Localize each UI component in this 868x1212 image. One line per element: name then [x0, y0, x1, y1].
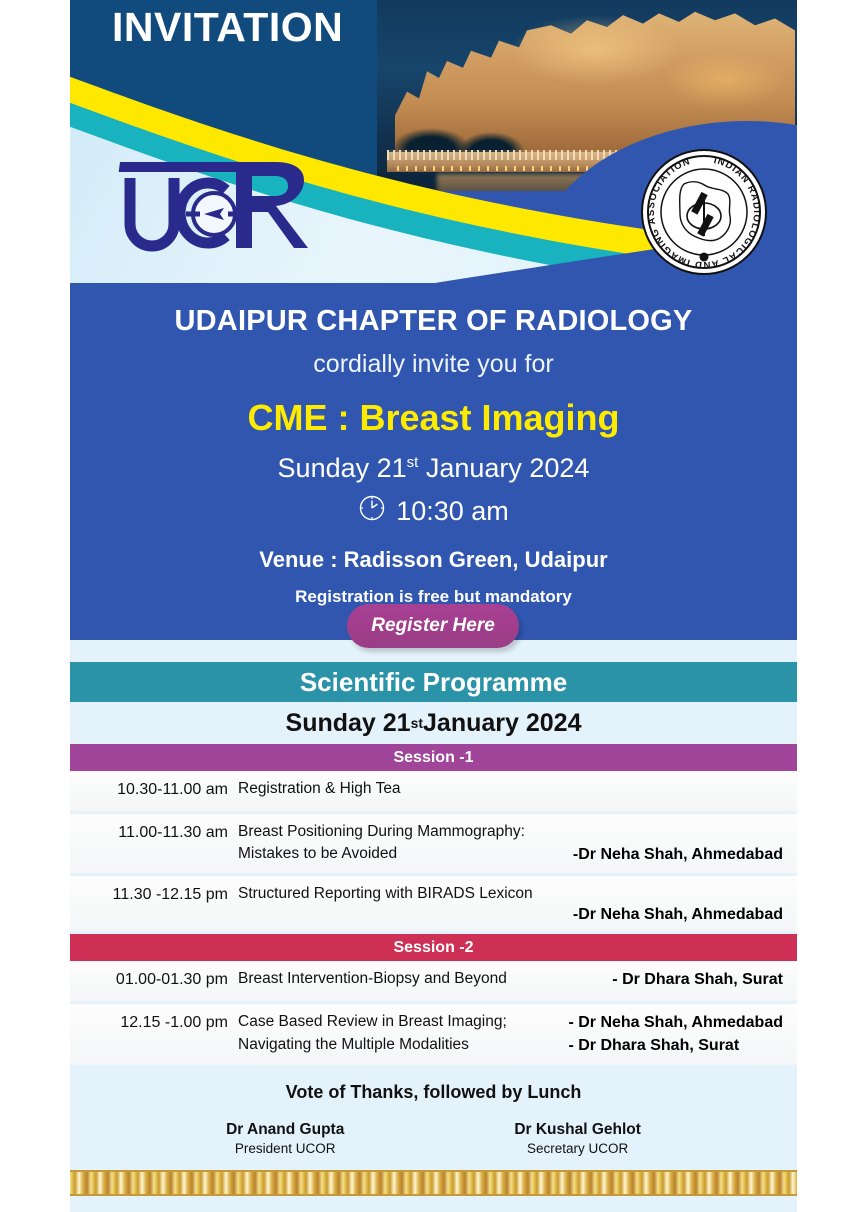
event-title: CME : Breast Imaging: [70, 397, 797, 439]
programme-header: Scientific Programme: [70, 662, 797, 702]
programme-date-suffix: January 2024: [423, 709, 581, 738]
topic-line: Case Based Review in Breast Imaging;: [238, 1011, 568, 1033]
topic-line: Breast Positioning During Mammography:: [238, 821, 573, 843]
topic-line: Mistakes to be Avoided: [238, 843, 573, 865]
topic-line: Structured Reporting with BIRADS Lexicon: [238, 883, 783, 905]
gold-decorative-border: [70, 1170, 797, 1196]
event-date-ordinal: st: [407, 454, 419, 471]
organization-title: UDAIPUR CHAPTER OF RADIOLOGY: [70, 283, 797, 338]
signatory-president: Dr Anand Gupta President UCOR: [226, 1121, 344, 1156]
event-venue: Venue : Radisson Green, Udaipur: [70, 547, 797, 573]
session-1-bar: Session -1: [70, 744, 797, 771]
row-speaker: - Dr Dhara Shah, Surat: [612, 968, 783, 991]
row-topic: Breast Positioning During Mammography: M…: [238, 821, 573, 866]
signatory-name: Dr Anand Gupta: [226, 1121, 344, 1139]
row-topic: Structured Reporting with BIRADS Lexicon: [238, 883, 783, 906]
row-topic: Registration & High Tea: [238, 778, 783, 800]
topic-line: Navigating the Multiple Modalities: [238, 1034, 568, 1056]
invitation-poster: INVITATION: [70, 0, 797, 1212]
row-topic: Case Based Review in Breast Imaging; Nav…: [238, 1011, 568, 1056]
table-row: 11.30 -12.15 pm Structured Reporting wit…: [70, 876, 797, 934]
table-row: 01.00-01.30 pm Breast Intervention-Biops…: [70, 961, 797, 1004]
clock-icon: [358, 494, 386, 529]
row-speaker: - Dr Neha Shah, Ahmedabad: [568, 1011, 783, 1034]
event-date-suffix: January 2024: [418, 453, 589, 483]
signatory-secretary: Dr Kushal Gehlot Secretary UCOR: [514, 1121, 641, 1156]
row-speaker: -Dr Neha Shah, Ahmedabad: [80, 906, 783, 924]
row-time: 11.30 -12.15 pm: [80, 883, 238, 906]
event-time-row: 10:30 am: [70, 494, 797, 529]
bottom-fill: [70, 1196, 797, 1210]
session-2-bar: Session -2: [70, 934, 797, 961]
ucor-logo: [108, 148, 308, 260]
invitation-title: INVITATION: [112, 4, 343, 51]
row-time: 10.30-11.00 am: [80, 778, 238, 801]
signatories: Dr Anand Gupta President UCOR Dr Kushal …: [70, 1103, 797, 1166]
row-speaker-group: - Dr Neha Shah, Ahmedabad - Dr Dhara Sha…: [568, 1011, 783, 1057]
topic-line: Registration & High Tea: [238, 778, 783, 800]
event-details-section: UDAIPUR CHAPTER OF RADIOLOGY cordially i…: [70, 283, 797, 640]
row-time: 11.00-11.30 am: [80, 821, 238, 844]
signatory-role: Secretary UCOR: [514, 1141, 641, 1156]
row-speaker: -Dr Neha Shah, Ahmedabad: [573, 843, 783, 866]
table-row: 12.15 -1.00 pm Case Based Review in Brea…: [70, 1004, 797, 1067]
table-row: 11.00-11.30 am Breast Positioning During…: [70, 814, 797, 876]
register-here-button[interactable]: Register Here: [347, 604, 519, 648]
row-time: 12.15 -1.00 pm: [80, 1011, 238, 1034]
invite-line: cordially invite you for: [70, 350, 797, 379]
event-date: Sunday 21st January 2024: [70, 453, 797, 484]
signatory-role: President UCOR: [226, 1141, 344, 1156]
programme-date-ordinal: st: [411, 715, 423, 731]
row-speaker: - Dr Dhara Shah, Surat: [568, 1034, 783, 1057]
signatory-name: Dr Kushal Gehlot: [514, 1121, 641, 1139]
programme-date-prefix: Sunday 21: [286, 709, 411, 738]
row-topic: Breast Intervention-Biopsy and Beyond: [238, 968, 612, 990]
vote-of-thanks: Vote of Thanks, followed by Lunch: [70, 1068, 797, 1103]
event-time: 10:30 am: [396, 496, 509, 527]
topic-line: Breast Intervention-Biopsy and Beyond: [238, 968, 612, 990]
session-2-rows: 01.00-01.30 pm Breast Intervention-Biops…: [70, 961, 797, 1067]
gold-border-wrap: [70, 1166, 797, 1196]
table-row: 10.30-11.00 am Registration & High Tea: [70, 771, 797, 814]
poster-header: INVITATION: [70, 0, 797, 283]
row-main-line: 11.30 -12.15 pm Structured Reporting wit…: [80, 883, 783, 906]
row-time: 01.00-01.30 pm: [80, 968, 238, 991]
programme-date: Sunday 21st January 2024: [70, 702, 797, 744]
session-1-rows: 10.30-11.00 am Registration & High Tea 1…: [70, 771, 797, 934]
iria-seal-logo: INDIAN RADIOLOGICAL AND IMAGING ASSOCIAT…: [640, 148, 768, 276]
event-date-prefix: Sunday 21: [278, 453, 407, 483]
